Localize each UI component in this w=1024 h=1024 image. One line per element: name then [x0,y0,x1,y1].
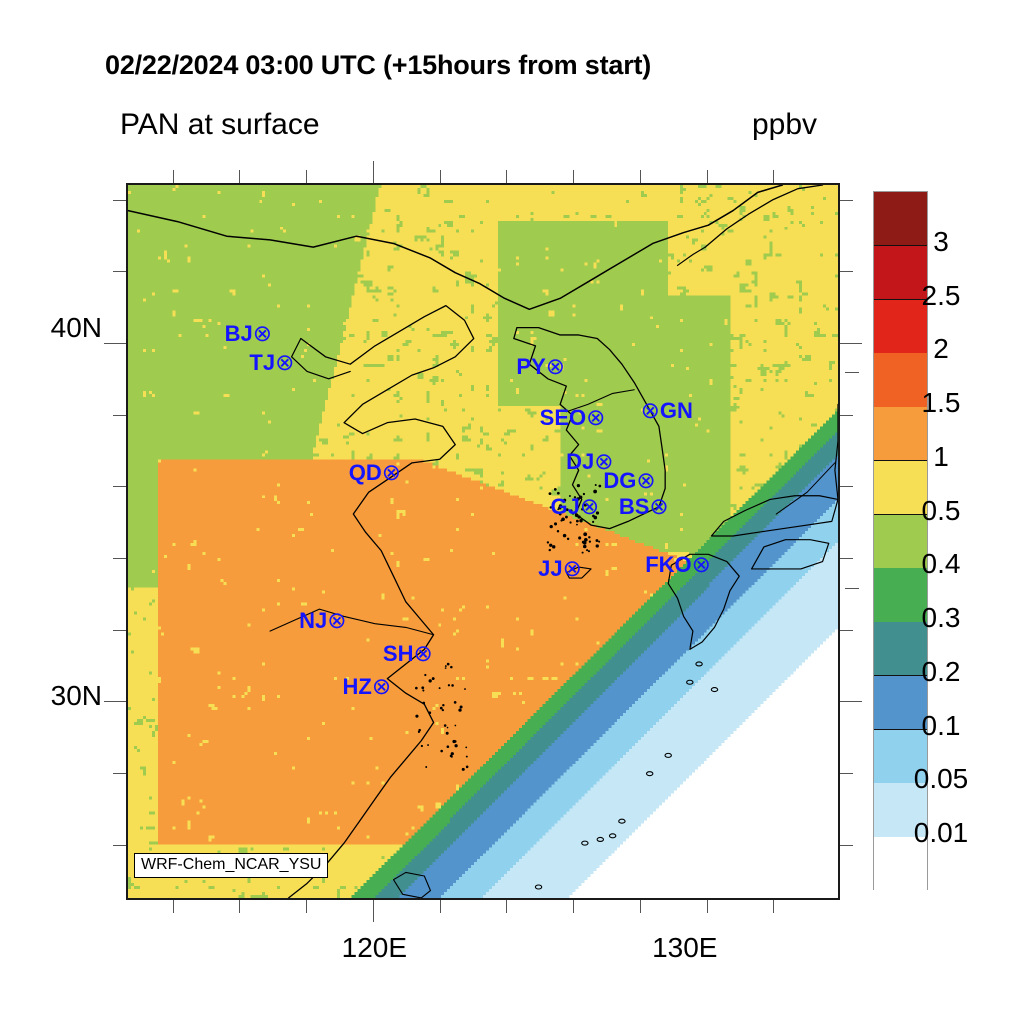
figure-root: 02/22/2024 03:00 UTC (+15hours from star… [0,0,1024,1024]
station-label: HZ [343,674,372,699]
station-label: BS [619,494,650,519]
y-tick-right [840,271,853,272]
figure-subtitle: PAN at surface [120,108,320,142]
y-tick [113,486,126,487]
circled-x-icon: ⊗ [382,459,401,485]
circled-x-icon: ⊗ [327,607,346,633]
circled-x-icon: ⊗ [641,397,660,423]
x-tick-label: 120E [330,932,418,964]
station-marker-bj[interactable]: BJ⊗ [225,322,272,345]
x-tick [306,900,307,913]
station-label: SEO [540,405,586,430]
colorbar-side-tick [845,588,859,589]
colorbar-segment [874,461,927,515]
station-marker-seo[interactable]: SEO⊗ [540,406,606,429]
x-tick-top [573,170,574,183]
colorbar-tick-label: 1.5 [922,387,961,419]
colorbar-tick-label: 0.5 [922,495,961,527]
station-label: NJ [299,608,327,633]
colorbar-tick-label: 2.5 [922,280,961,312]
y-tick-right [840,845,853,846]
y-tick [104,701,126,702]
x-tick-top [773,170,774,183]
colorbar-tick-label: 0.01 [914,817,969,849]
x-tick [707,900,708,913]
coastline-overlay [128,185,838,898]
colorbar-tick-label: 3 [933,226,949,258]
y-tick-right [840,558,853,559]
colorbar-segment [874,246,927,300]
station-label: GJ [551,494,580,519]
x-tick-top [640,170,641,183]
station-label: TJ [249,350,275,375]
station-marker-jj[interactable]: JJ⊗ [538,557,582,580]
colorbar-tick-label: 0.4 [922,548,961,580]
circled-x-icon: ⊗ [563,555,582,581]
colorbar-tick-label: 0.3 [922,602,961,634]
x-tick [573,900,574,913]
y-tick [113,773,126,774]
colorbar-segment [874,622,927,676]
colorbar-segment [874,353,927,407]
x-tick-top [506,170,507,183]
colorbar-segment [874,676,927,730]
station-label: BJ [225,321,253,346]
station-label: FKO [645,552,691,577]
circled-x-icon: ⊗ [372,673,391,699]
circled-x-icon: ⊗ [275,349,294,375]
colorbar-tick-label: 1 [933,441,949,473]
map-plot-area: WRF-Chem_NCAR_YSU [126,183,840,900]
y-tick [113,845,126,846]
y-tick [113,630,126,631]
model-watermark: WRF-Chem_NCAR_YSU [134,853,328,878]
station-marker-qd[interactable]: QD⊗ [349,461,401,484]
y-tick-right [840,415,853,416]
x-tick [773,900,774,913]
station-marker-py[interactable]: PY⊗ [516,355,565,378]
x-tick-top [173,170,174,183]
y-tick-label: 30N [10,680,102,712]
colorbar-segment [874,407,927,461]
colorbar-tick-label: 0.05 [914,763,969,795]
y-tick [104,343,126,344]
x-tick [640,900,641,913]
colorbar-segment [874,568,927,622]
station-marker-sh[interactable]: SH⊗ [383,642,433,665]
x-tick-top [440,170,441,183]
station-label: QD [349,460,382,485]
x-tick-top [707,170,708,183]
colorbar-segment [874,300,927,354]
colorbar-tick-label: 0.2 [922,656,961,688]
x-tick [373,900,374,922]
station-marker-gn[interactable]: ⊗GN [641,399,693,422]
colorbar-segment [874,515,927,569]
x-tick-top [373,161,374,183]
station-marker-fko[interactable]: FKO⊗ [645,553,711,576]
y-tick-right [840,701,862,702]
station-marker-gj[interactable]: GJ⊗ [551,495,600,518]
station-label: GN [660,398,693,423]
circled-x-icon: ⊗ [586,404,605,430]
y-tick-right [840,200,853,201]
circled-x-icon: ⊗ [649,493,668,519]
colorbar-tick-label: 2 [933,333,949,365]
y-tick [113,271,126,272]
station-marker-bs[interactable]: BS⊗ [619,495,669,518]
colorbar-side-tick [845,372,859,373]
x-tick [239,900,240,913]
station-label: DG [603,468,636,493]
station-label: PY [516,354,545,379]
station-label: DJ [566,449,594,474]
station-label: JJ [538,556,562,581]
figure-title: 02/22/2024 03:00 UTC (+15hours from star… [105,50,651,81]
x-tick-label: 130E [641,932,729,964]
units-label: ppbv [752,108,817,142]
y-tick [113,558,126,559]
y-tick-label: 40N [10,312,102,344]
circled-x-icon: ⊗ [636,467,655,493]
x-tick [440,900,441,913]
circled-x-icon: ⊗ [546,353,565,379]
station-marker-hz[interactable]: HZ⊗ [343,675,392,698]
circled-x-icon: ⊗ [580,493,599,519]
station-marker-tj[interactable]: TJ⊗ [249,351,294,374]
x-tick-top [306,170,307,183]
y-tick [113,415,126,416]
colorbar-segment [874,192,927,246]
colorbar-tick-label: 0.1 [922,710,961,742]
y-tick-right [840,486,853,487]
station-marker-dg[interactable]: DG⊗ [603,469,655,492]
circled-x-icon: ⊗ [253,320,272,346]
y-tick-right [840,773,853,774]
station-marker-nj[interactable]: NJ⊗ [299,609,346,632]
circled-x-icon: ⊗ [413,640,432,666]
y-tick-right [840,630,853,631]
y-tick-right [840,343,862,344]
circled-x-icon: ⊗ [692,551,711,577]
x-tick [173,900,174,913]
station-label: SH [383,641,414,666]
x-tick [506,900,507,913]
x-tick-top [239,170,240,183]
y-tick [113,200,126,201]
